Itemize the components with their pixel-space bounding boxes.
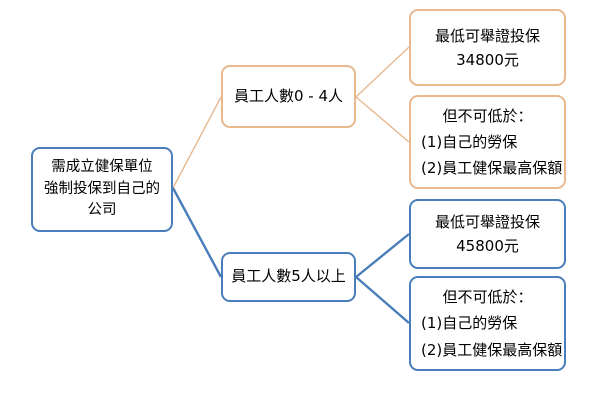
edge-branch-small-to-min-small xyxy=(356,47,409,97)
node-min-large-line-1: 最低可舉證投保 xyxy=(411,210,564,234)
node-min-small-amount: 34800元 xyxy=(411,48,564,72)
node-root-line-2: 強制投保到自己的 xyxy=(33,179,171,201)
edge-branch-large-to-limit-large xyxy=(356,277,409,323)
edge-root-to-branch-small xyxy=(173,97,221,188)
node-limit-large[interactable]: 但不可低於： (1)自己的勞保 (2)員工健保最高保額 xyxy=(409,276,566,371)
node-limit-small-header: 但不可低於： xyxy=(411,103,564,129)
node-limit-small-item-2: (2)員工健保最高保額 xyxy=(411,155,564,181)
node-branch-large[interactable]: 員工人數5人以上 xyxy=(221,252,356,302)
node-min-small[interactable]: 最低可舉證投保 34800元 xyxy=(409,9,566,86)
node-min-large[interactable]: 最低可舉證投保 45800元 xyxy=(409,199,566,269)
node-root-line-3: 公司 xyxy=(33,200,171,222)
edge-branch-small-to-limit-small xyxy=(356,97,409,142)
node-branch-small-label: 員工人數0 - 4人 xyxy=(223,85,354,108)
node-root-line-1: 需成立健保單位 xyxy=(33,157,171,179)
node-limit-large-item-1: (1)自己的勞保 xyxy=(411,310,564,336)
edge-branch-large-to-min-large xyxy=(356,234,409,277)
node-limit-large-item-2: (2)員工健保最高保額 xyxy=(411,337,564,363)
node-limit-small[interactable]: 但不可低於： (1)自己的勞保 (2)員工健保最高保額 xyxy=(409,95,566,189)
node-min-large-amount: 45800元 xyxy=(411,234,564,258)
edge-root-to-branch-large xyxy=(173,188,221,277)
node-limit-large-header: 但不可低於： xyxy=(411,284,564,310)
node-branch-small[interactable]: 員工人數0 - 4人 xyxy=(221,65,356,128)
node-min-small-line-1: 最低可舉證投保 xyxy=(411,24,564,48)
flowchart-canvas: 需成立健保單位 強制投保到自己的 公司 員工人數0 - 4人 員工人數5人以上 … xyxy=(0,0,600,401)
node-root[interactable]: 需成立健保單位 強制投保到自己的 公司 xyxy=(31,147,173,232)
node-limit-small-item-1: (1)自己的勞保 xyxy=(411,129,564,155)
node-branch-large-label: 員工人數5人以上 xyxy=(223,265,354,288)
